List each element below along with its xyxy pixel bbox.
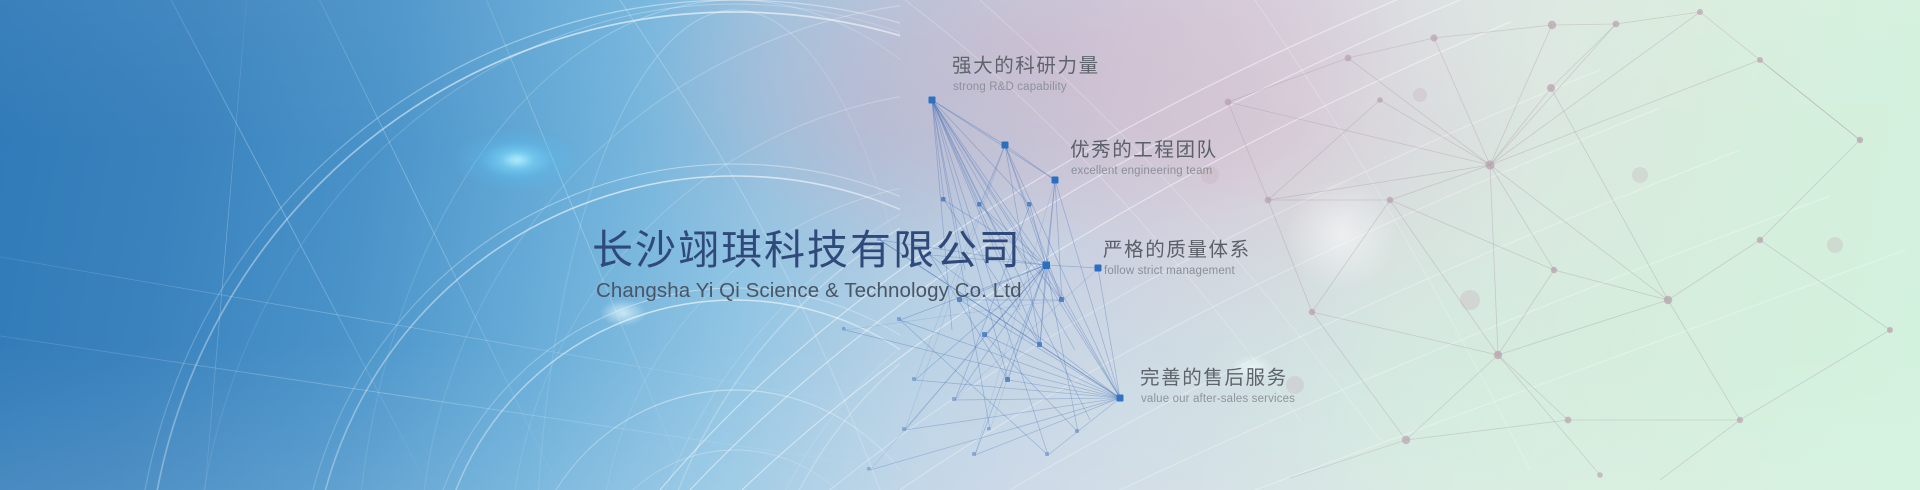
company-banner: 长沙翊琪科技有限公司 Changsha Yi Qi Science & Tech… [0, 0, 1920, 490]
background-vignette [0, 0, 1920, 490]
